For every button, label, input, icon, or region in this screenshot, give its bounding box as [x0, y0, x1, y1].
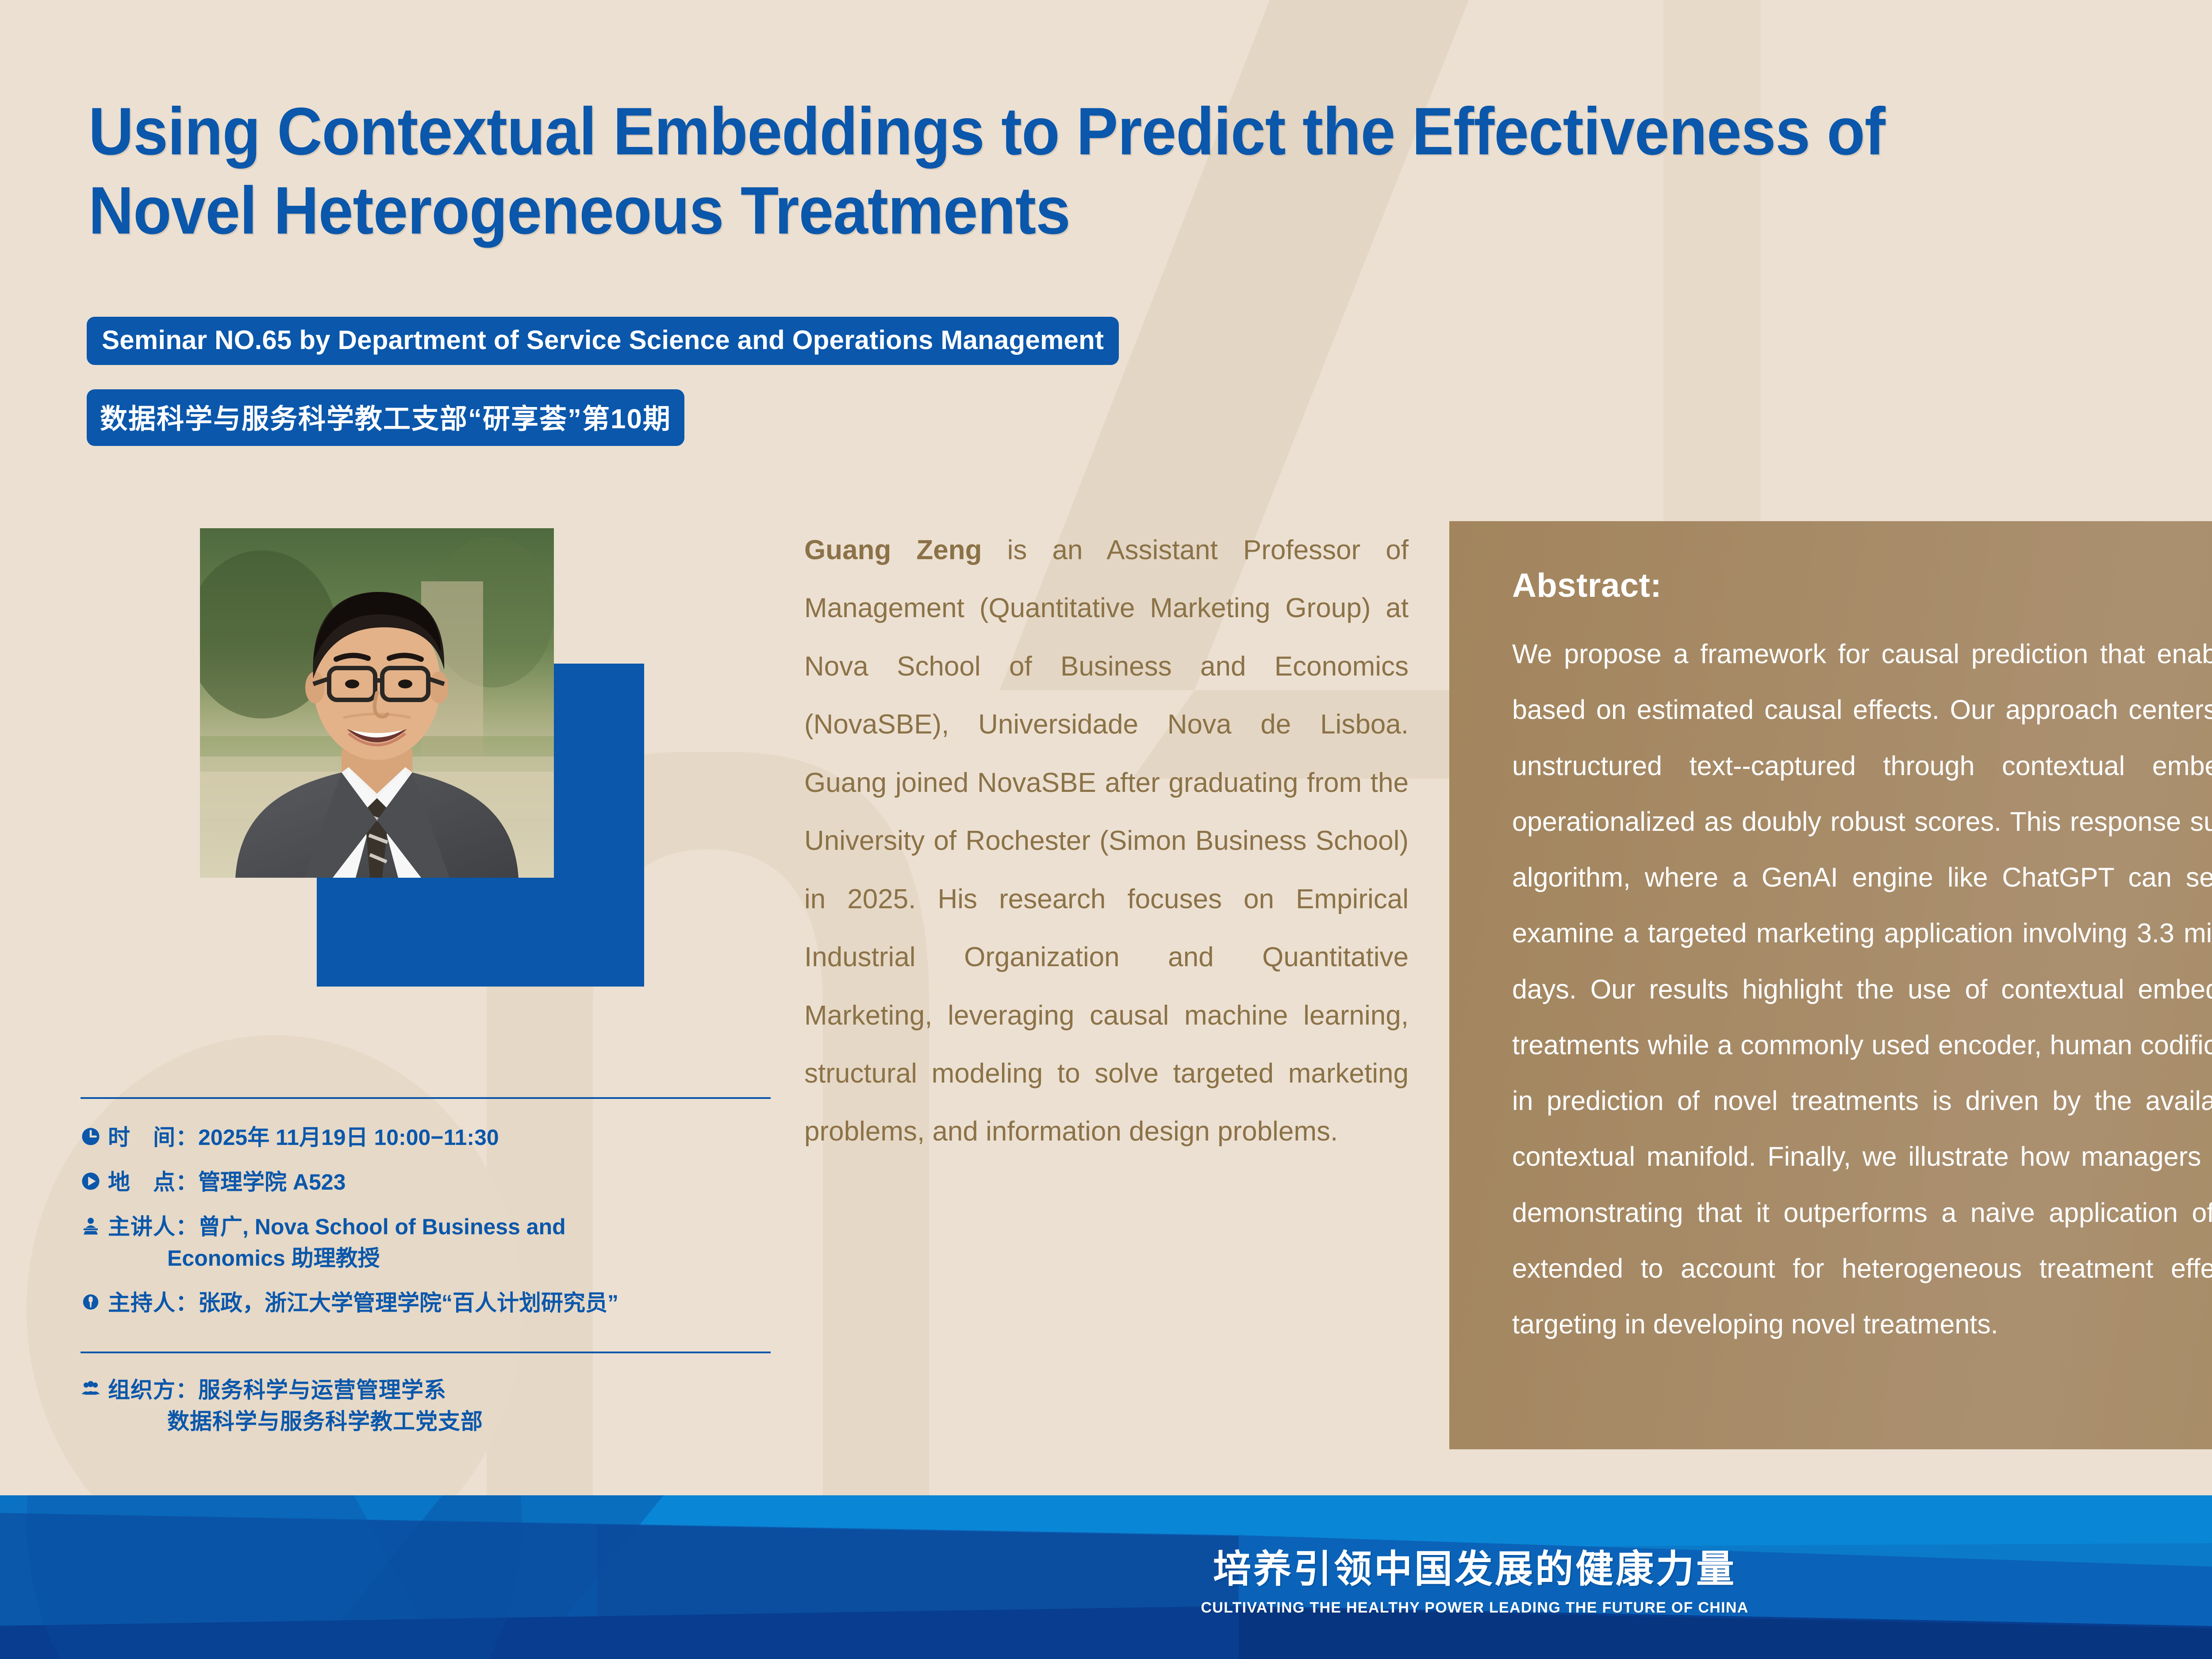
- detail-row-host: 主持人： 张政，浙江大学管理学院“百人计划研究员”: [81, 1287, 780, 1319]
- detail-value-time: 2025年 11月19日 10:00−11:30: [198, 1122, 499, 1153]
- event-details: 时 间： 2025年 11月19日 10:00−11:30 地 点： 管理学院 …: [81, 1097, 780, 1451]
- page-title-line1: Using Contextual Embeddings to Predict t…: [88, 92, 1899, 171]
- detail-value-speaker-cont: Economics 助理教授: [167, 1246, 380, 1271]
- abstract-panel: Abstract: We propose a framework for cau…: [1449, 521, 2212, 1449]
- detail-value-organizer-2: 数据科学与服务科学教工党支部: [167, 1409, 483, 1434]
- group-icon: [81, 1375, 108, 1399]
- abstract-body: We propose a framework for causal predic…: [1512, 626, 2212, 1352]
- speaker-bio: Guang Zeng is an Assistant Professor of …: [804, 521, 1409, 1161]
- title-block: Using Contextual Embeddings to Predict t…: [88, 92, 2035, 251]
- detail-label-time: 时 间：: [108, 1122, 198, 1153]
- microphone-icon: [81, 1287, 108, 1312]
- detail-row-speaker: 主讲人： 曾广, Nova School of Business and Eco…: [81, 1211, 780, 1274]
- page-title-line2: Novel Heterogeneous Treatments: [88, 171, 1899, 250]
- footer-banner: 培养引领中国发展的健康力量 CULTIVATING THE HEALTHY PO…: [0, 1495, 2212, 1659]
- seminar-series-badge-en: Seminar NO.65 by Department of Service S…: [87, 317, 1119, 365]
- detail-row-location: 地 点： 管理学院 A523: [81, 1167, 780, 1198]
- speaker-photo-block: [200, 528, 589, 988]
- detail-value-organizer-1: 服务科学与运营管理学系: [198, 1375, 446, 1406]
- detail-label-organizer: 组织方：: [108, 1375, 198, 1406]
- abstract-heading: Abstract:: [1512, 566, 2212, 605]
- detail-value-speaker: 曾广, Nova School of Business and: [198, 1211, 566, 1243]
- footer-slogan-cn: 培养引领中国发展的健康力量: [1213, 1538, 1736, 1593]
- detail-label-location: 地 点：: [108, 1167, 198, 1198]
- seminar-series-badge-cn: 数据科学与服务科学教工支部“研享荟”第10期: [87, 389, 684, 446]
- detail-value-location: 管理学院 A523: [198, 1167, 346, 1198]
- detail-label-speaker: 主讲人：: [108, 1211, 198, 1243]
- speaker-portrait-illustration: [200, 528, 554, 878]
- speaker-bio-name: Guang Zeng: [804, 535, 982, 565]
- detail-label-host: 主持人：: [108, 1287, 198, 1319]
- detail-value-host: 张政，浙江大学管理学院“百人计划研究员”: [198, 1287, 618, 1319]
- speaker-photo: [200, 528, 554, 878]
- speaker-icon: [81, 1211, 108, 1236]
- clock-icon: [81, 1122, 108, 1147]
- footer-slogan-en: CULTIVATING THE HEALTHY POWER LEADING TH…: [1201, 1599, 1748, 1617]
- detail-row-time: 时 间： 2025年 11月19日 10:00−11:30: [81, 1122, 780, 1153]
- speaker-bio-text: is an Assistant Professor of Management …: [804, 535, 1409, 1147]
- detail-row-organizer: 组织方： 服务科学与运营管理学系 数据科学与服务科学教工党支部: [81, 1375, 780, 1437]
- location-icon: [81, 1167, 108, 1191]
